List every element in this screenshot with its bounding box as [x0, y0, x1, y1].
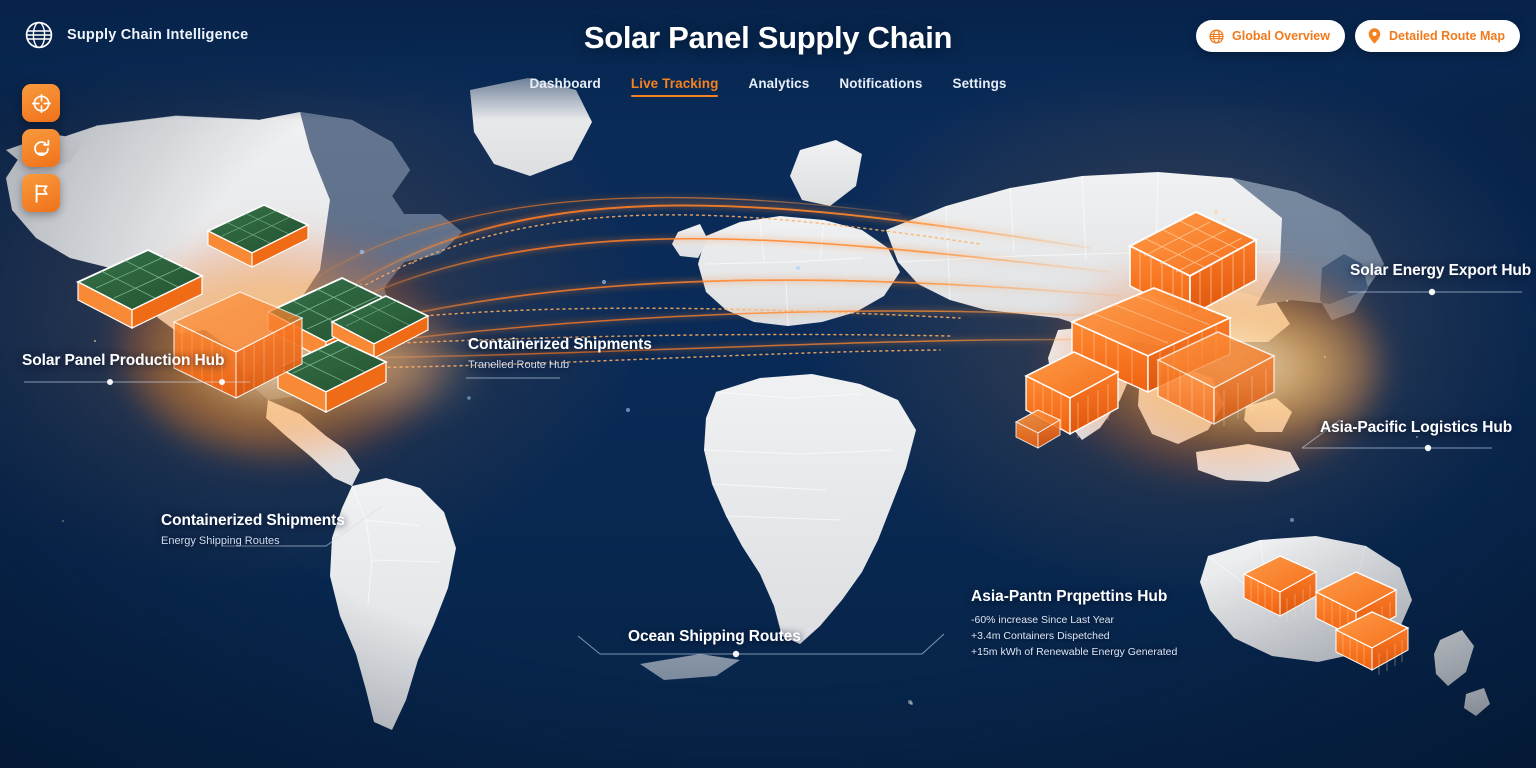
annotation-ocean-shipping-routes[interactable]: Ocean Shipping Routes: [628, 628, 801, 646]
annotation-title: Containerized Shipments: [161, 512, 345, 530]
stats-line: +15m kWh of Renewable Energy Generated: [971, 644, 1177, 660]
map-toolbar[interactable]: [22, 84, 60, 212]
annotation-title: Containerized Shipments: [468, 336, 652, 354]
nav-item-notifications[interactable]: Notifications: [839, 76, 922, 97]
annotation-subtitle: Tranelled Route Hub: [468, 359, 652, 371]
annotation-title: Solar Energy Export Hub: [1350, 262, 1531, 280]
nav-item-dashboard[interactable]: Dashboard: [529, 76, 600, 97]
annotation-subtitle: Energy Shipping Routes: [161, 535, 345, 547]
annotation-title: Ocean Shipping Routes: [628, 628, 801, 646]
annotation-solar-energy-export-hub[interactable]: Solar Energy Export Hub: [1350, 262, 1531, 280]
annotation-title: Asia-Pacific Logistics Hub: [1320, 419, 1512, 437]
view-mode-buttons[interactable]: Global Overview Detailed Route Map: [1196, 20, 1520, 52]
stats-line: +3.4m Containers Dispetched: [971, 628, 1177, 644]
nav-item-analytics[interactable]: Analytics: [748, 76, 809, 97]
target-crosshair-icon[interactable]: [22, 84, 60, 122]
nav-item-settings[interactable]: Settings: [952, 76, 1006, 97]
main-nav[interactable]: Dashboard Live Tracking Analytics Notifi…: [0, 76, 1536, 97]
app-root: Supply Chain Intelligence Solar Panel Su…: [0, 0, 1536, 768]
nav-item-live-tracking[interactable]: Live Tracking: [631, 76, 719, 97]
map-pin-icon: [1367, 27, 1382, 45]
globe-icon: [1208, 28, 1225, 45]
annotation-asia-pacific-logistics-hub[interactable]: Asia-Pacific Logistics Hub: [1320, 419, 1512, 437]
global-overview-button[interactable]: Global Overview: [1196, 20, 1345, 52]
annotation-containerized-shipments-travelled[interactable]: Containerized Shipments Tranelled Route …: [468, 336, 652, 371]
global-overview-label: Global Overview: [1232, 29, 1330, 43]
detailed-route-map-button[interactable]: Detailed Route Map: [1355, 20, 1520, 52]
annotation-containerized-shipments-energy[interactable]: Containerized Shipments Energy Shipping …: [161, 512, 345, 547]
annotation-solar-panel-production-hub[interactable]: Solar Panel Production Hub: [22, 352, 224, 370]
stats-panel[interactable]: Asia-Pantn Prqpettins Hub -60% increase …: [971, 588, 1177, 660]
detailed-route-map-label: Detailed Route Map: [1389, 29, 1505, 43]
stats-line: -60% increase Since Last Year: [971, 612, 1177, 628]
world-map[interactable]: [0, 0, 1536, 768]
flag-icon[interactable]: [22, 174, 60, 212]
annotation-title: Solar Panel Production Hub: [22, 352, 224, 370]
refresh-icon[interactable]: [22, 129, 60, 167]
stats-title: Asia-Pantn Prqpettins Hub: [971, 588, 1177, 606]
